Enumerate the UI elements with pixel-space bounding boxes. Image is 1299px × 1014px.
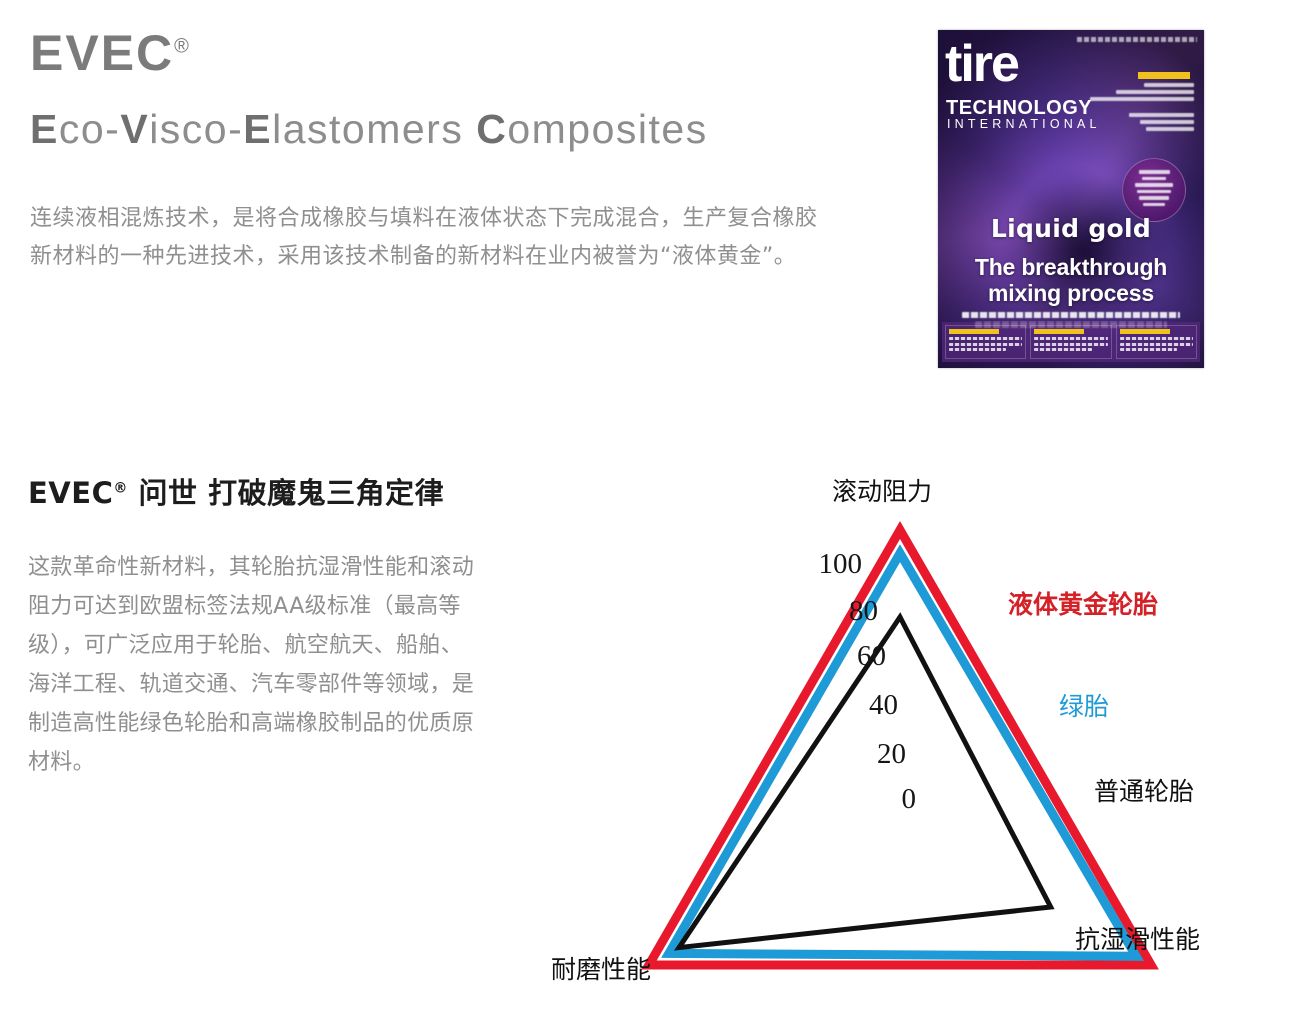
axis-label-rolling-resistance: 滚动阻力 (832, 472, 932, 508)
section-title-rest: 问世 打破魔鬼三角定律 (138, 476, 444, 510)
brand-block: EVEC® Eco-Visco-Elastomers Composites (30, 28, 189, 78)
cover-teaser-bar (942, 322, 1200, 362)
cover-content: tire TECHNOLOGY INTERNATIONAL Liquid gol… (938, 30, 1204, 368)
section-title-brand: EVEC (28, 476, 113, 510)
poster-page: EVEC® Eco-Visco-Elastomers Composites 连续… (0, 0, 1299, 1014)
cover-masthead-sub: TECHNOLOGY (946, 98, 1092, 118)
cover-masthead-main: tire (945, 42, 1018, 87)
legend-ordinary-tire: 普通轮胎 (1094, 772, 1194, 808)
section-paragraph: 这款革命性新材料，其轮胎抗湿滑性能和滚动阻力可达到欧盟标签法规AA级标准（最高等… (28, 548, 483, 782)
cover-teaser-1 (945, 325, 1026, 359)
legend-green-tire: 绿胎 (1059, 687, 1109, 723)
tick-80: 80 (812, 595, 878, 628)
tagline-rest-1: co- (59, 106, 120, 152)
section-title: EVEC® 问世 打破魔鬼三角定律 (28, 470, 444, 512)
brand-tagline: Eco-Visco-Elastomers Composites (30, 106, 708, 153)
tagline-bold-v: V (120, 106, 149, 152)
legend-liquid-gold-tire: 液体黄金轮胎 (1008, 585, 1158, 621)
tick-40: 40 (832, 689, 898, 722)
cover-teaser-3 (1116, 325, 1197, 359)
intro-paragraph: 连续液相混炼技术，是将合成橡胶与填料在液体状态下完成混合，生产复合橡胶新材料的一… (30, 200, 820, 276)
cover-masthead-sub2: INTERNATIONAL (947, 118, 1101, 131)
cover-website-line (1077, 37, 1197, 42)
tagline-rest-4: omposites (507, 106, 707, 152)
tagline-rest-2: isco- (149, 106, 243, 152)
tagline-bold-c: C (476, 106, 507, 152)
registered-mark: ® (174, 35, 189, 57)
cover-expo-badge (1122, 158, 1186, 222)
cover-contributor-text (1086, 83, 1194, 134)
cover-subhead-line1: The breakthrough (938, 254, 1204, 280)
tagline-bold-e1: E (30, 106, 59, 152)
tick-60: 60 (820, 640, 886, 673)
tick-100: 100 (796, 548, 862, 581)
section-registered-mark: ® (113, 480, 128, 496)
cover-subhead-line2: mixing process (938, 280, 1204, 306)
brand-name: EVEC (30, 25, 174, 81)
tagline-rest-3: lastomers (272, 106, 476, 152)
radar-chart: 滚动阻力 抗湿滑性能 耐磨性能 液体黄金轮胎 绿胎 普通轮胎 100 80 60… (520, 460, 1280, 1014)
axis-label-wet-grip: 抗湿滑性能 (1075, 920, 1200, 956)
tick-0: 0 (850, 783, 916, 816)
tagline-bold-e2: E (243, 106, 272, 152)
axis-label-abrasion: 耐磨性能 (551, 950, 651, 986)
cover-subhead: The breakthrough mixing process (938, 254, 1204, 306)
tick-20: 20 (840, 738, 906, 771)
cover-headline: Liquid gold (938, 214, 1204, 243)
brand-title: EVEC® (30, 28, 189, 78)
cover-teaser-2 (1030, 325, 1111, 359)
magazine-cover-image: tire TECHNOLOGY INTERNATIONAL Liquid gol… (938, 30, 1204, 368)
cover-highlight-tag (1138, 72, 1190, 79)
